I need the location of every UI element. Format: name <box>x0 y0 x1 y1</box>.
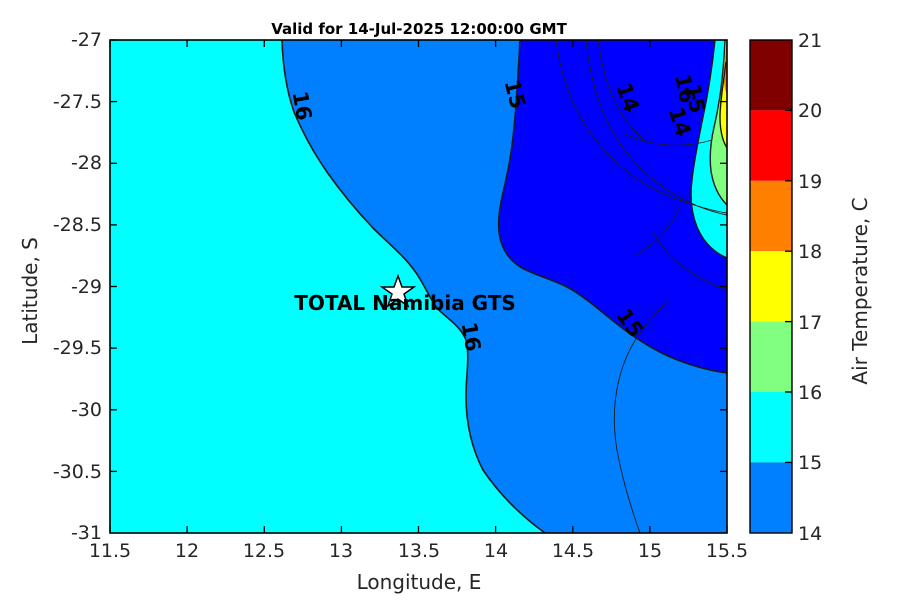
colorbar-band-20-21 <box>750 40 792 110</box>
contour-fill-group: 16 16 15 15 14 15 16 14 TOTAL Namibia GT… <box>110 40 727 533</box>
colorbar-label: Air Temperature, C <box>848 191 872 391</box>
colorbar-bands <box>750 40 792 533</box>
contour-label-16-upper: 16 <box>288 89 317 122</box>
figure-canvas: Valid for 14-Jul-2025 12:00:00 GMT <box>0 0 900 600</box>
colorbar-band-18-19 <box>750 181 792 251</box>
colorbar-tick-17: 17 <box>798 312 822 334</box>
station-label: TOTAL Namibia GTS <box>294 291 516 315</box>
x-axis-label: Longitude, E <box>0 570 838 594</box>
contour-label-16-lower: 16 <box>457 320 486 353</box>
colorbar-tick-20: 20 <box>798 100 822 122</box>
colorbar-tick-14: 14 <box>798 523 822 545</box>
colorbar[interactable] <box>745 0 900 600</box>
colorbar-tick-19: 19 <box>798 171 822 193</box>
colorbar-tick-16: 16 <box>798 382 822 404</box>
colorbar-tick-15: 15 <box>798 452 822 474</box>
colorbar-band-16-17 <box>750 322 792 392</box>
y-axis-label: Latitude, S <box>18 191 42 391</box>
colorbar-band-15-16 <box>750 392 792 462</box>
ytick-label-1: -27.5 <box>10 91 102 113</box>
colorbar-tick-21: 21 <box>798 30 822 52</box>
colorbar-tick-18: 18 <box>798 241 822 263</box>
colorbar-band-19-20 <box>750 110 792 180</box>
ytick-label-7: -30.5 <box>10 461 102 483</box>
ytick-label-0: -27 <box>10 29 102 51</box>
ytick-label-6: -30 <box>10 399 102 421</box>
ytick-label-2: -28 <box>10 152 102 174</box>
colorbar-band-17-18 <box>750 251 792 321</box>
colorbar-band-14-15 <box>750 462 792 532</box>
